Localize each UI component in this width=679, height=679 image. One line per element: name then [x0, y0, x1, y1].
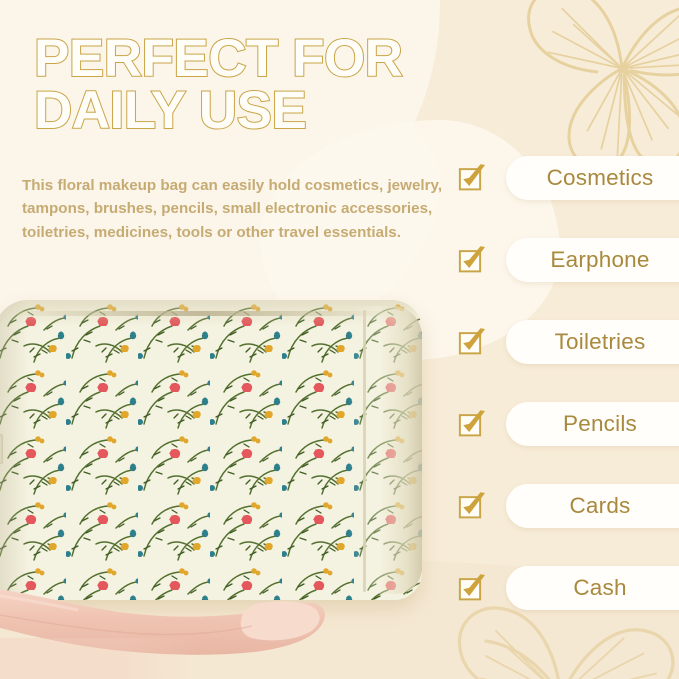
bag-piping-seam — [363, 310, 366, 592]
product-image — [0, 300, 426, 612]
checkbox-checked-icon[interactable] — [458, 572, 488, 602]
bag-left-shading — [0, 300, 28, 600]
checkbox-checked-icon[interactable] — [458, 490, 488, 520]
bag-side-panel — [348, 306, 422, 594]
checkbox-checked-icon[interactable] — [458, 408, 488, 438]
makeup-bag — [0, 300, 422, 600]
checklist-pill[interactable]: Toiletries — [506, 320, 679, 364]
page-title: PERFECT FOR DAILY USE — [34, 33, 464, 137]
checklist-item-label: Cosmetics — [506, 156, 679, 200]
description-text: This floral makeup bag can easily hold c… — [22, 174, 446, 244]
checklist-item-label: Earphone — [506, 238, 679, 282]
checklist-pill[interactable]: Pencils — [506, 402, 679, 446]
checklist-item-label: Cards — [506, 484, 679, 528]
checklist-pill[interactable]: Earphone — [506, 238, 679, 282]
checklist-pill[interactable]: Cosmetics — [506, 156, 679, 200]
bag-side-tab — [0, 434, 3, 464]
checklist-item-label: Cash — [506, 566, 679, 610]
checkbox-checked-icon[interactable] — [458, 244, 488, 274]
checklist-item-label: Toiletries — [506, 320, 679, 364]
bag-zipper — [16, 311, 388, 316]
checklist-pill[interactable]: Cards — [506, 484, 679, 528]
checkbox-checked-icon[interactable] — [458, 162, 488, 192]
checklist-pill[interactable]: Cash — [506, 566, 679, 610]
checklist-item-label: Pencils — [506, 402, 679, 446]
checkbox-checked-icon[interactable] — [458, 326, 488, 356]
product-feature-poster: PERFECT FOR DAILY USE This floral makeup… — [0, 0, 679, 679]
